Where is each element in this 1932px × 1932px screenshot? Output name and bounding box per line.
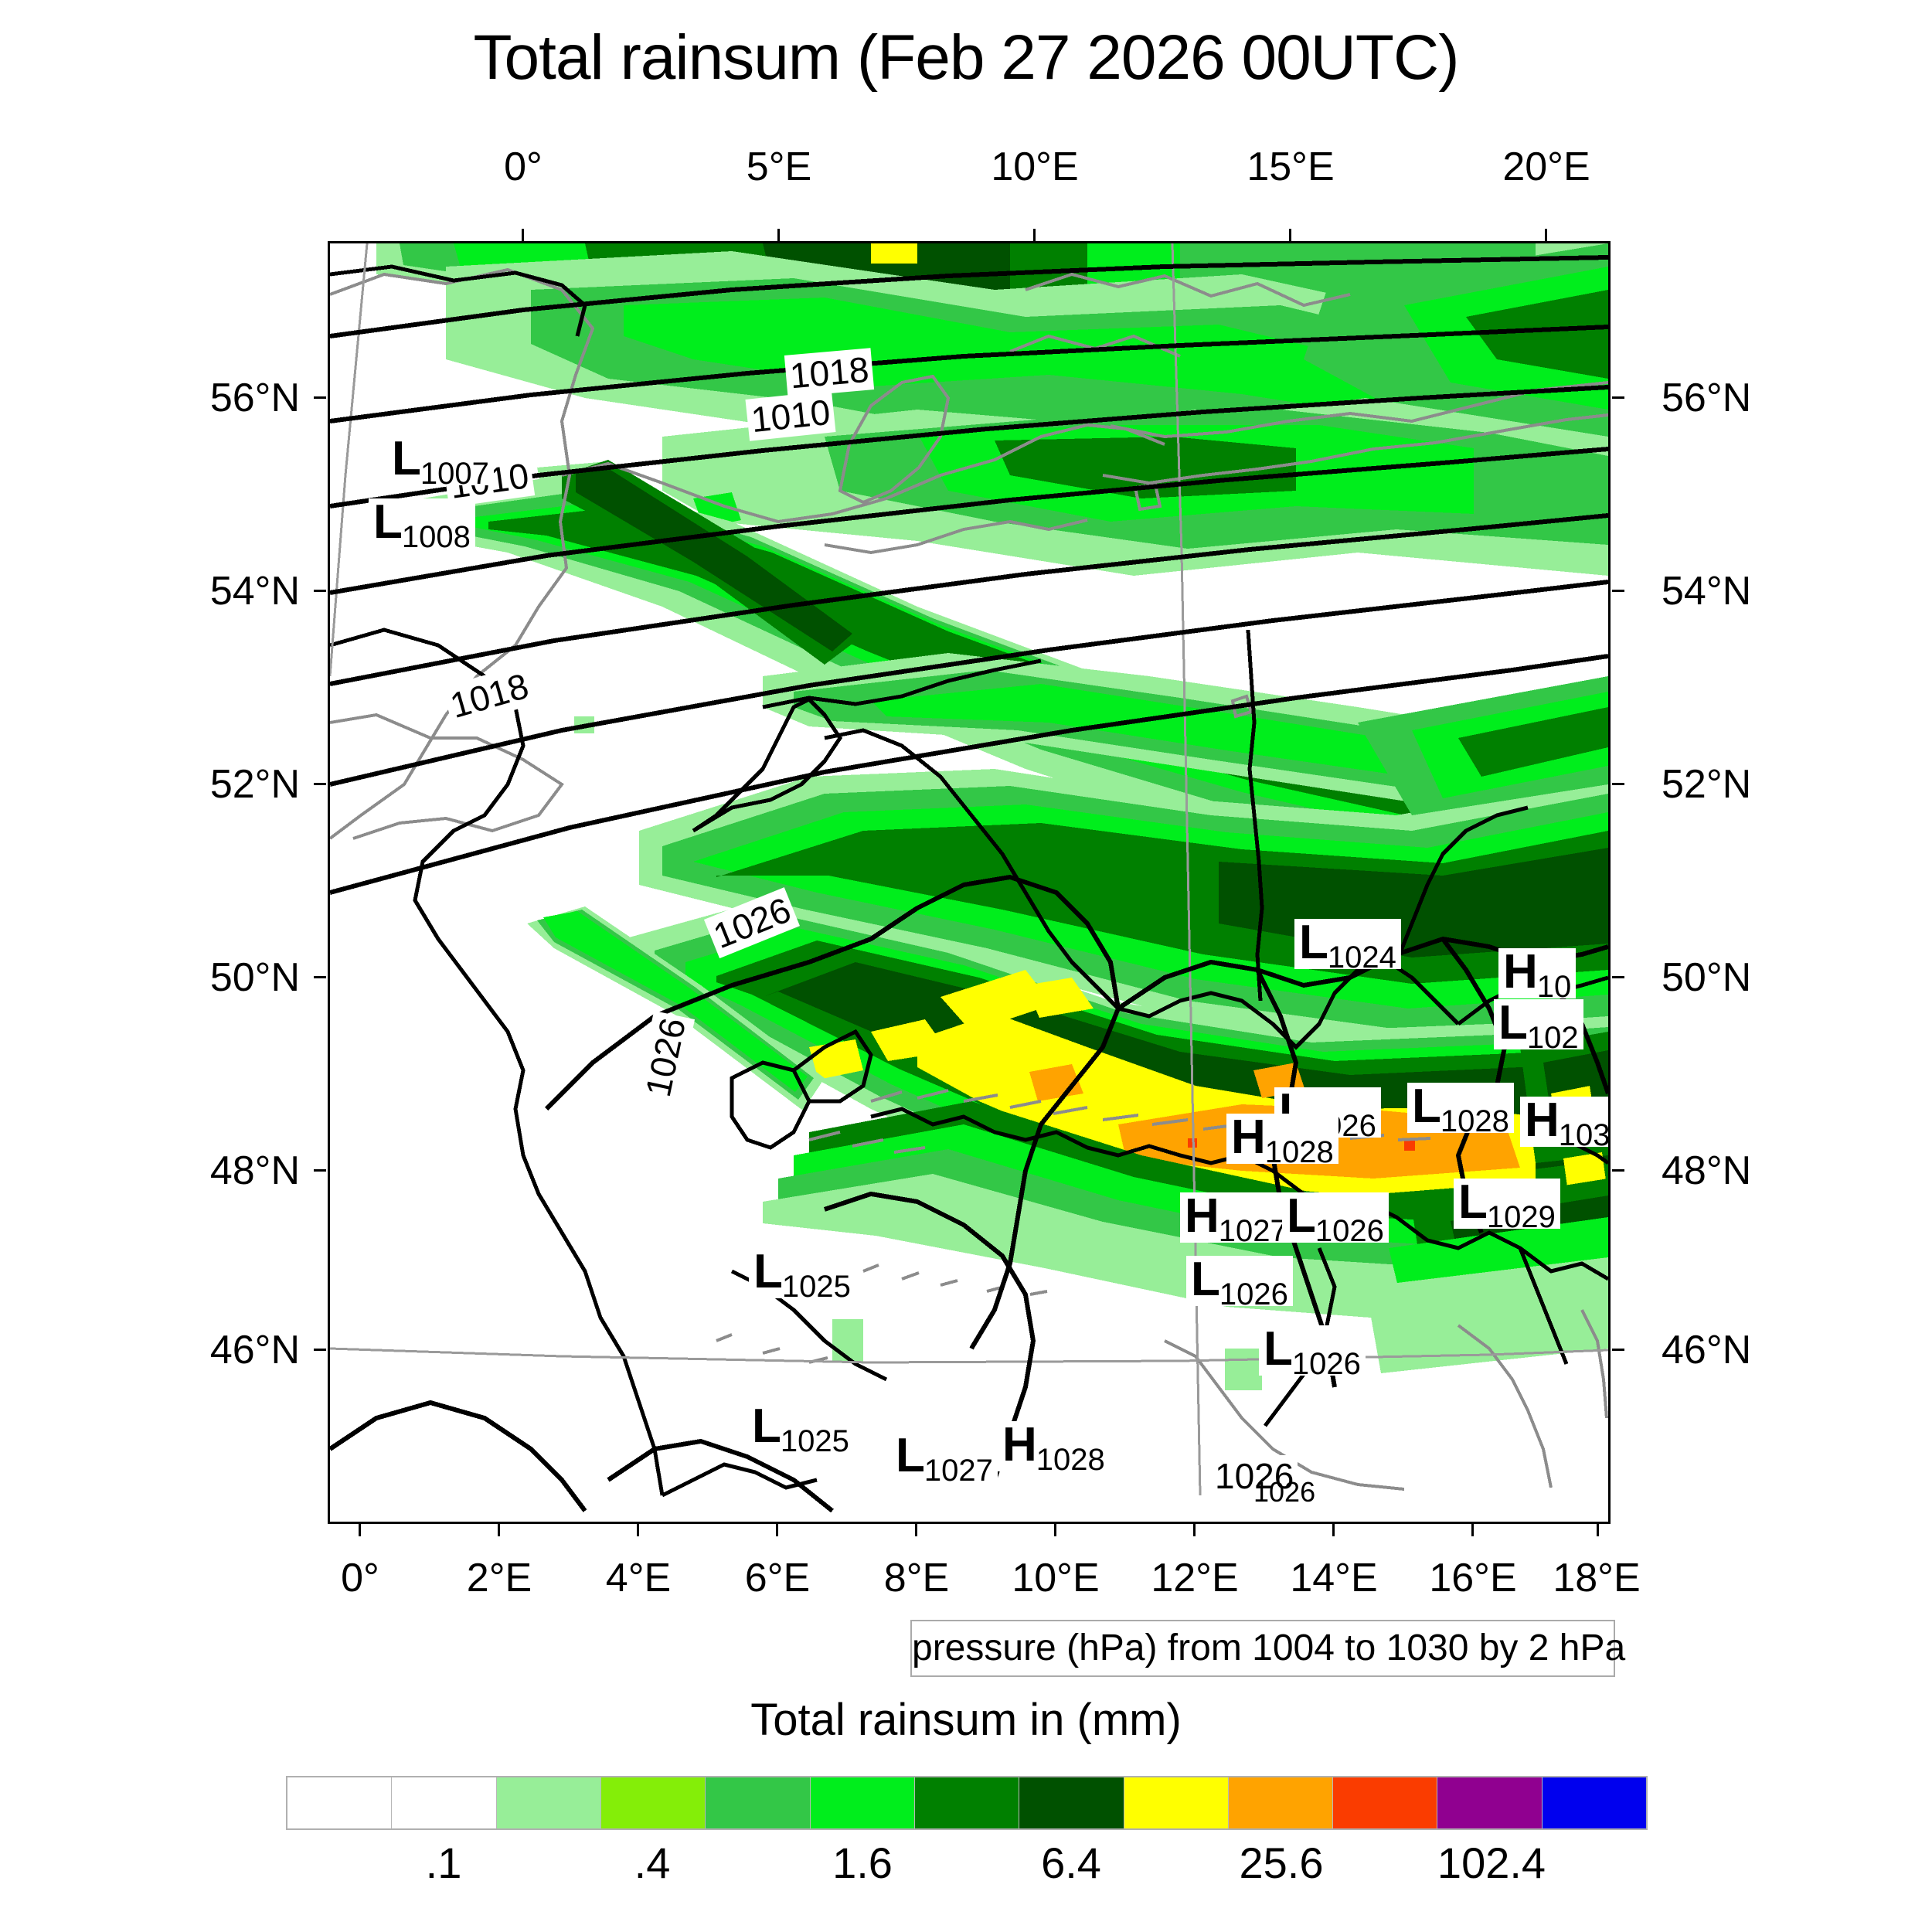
pressure-center-l-1025-a: L1025 — [749, 1248, 855, 1298]
colorbar-cell-8[interactable] — [1124, 1777, 1229, 1828]
pressure-center-l-1026-c: L1026 — [1186, 1256, 1293, 1306]
tick-left-0 — [314, 396, 326, 399]
colorbar-cell-2[interactable] — [497, 1777, 601, 1828]
colorbar-cell-7[interactable] — [1019, 1777, 1124, 1828]
tick-left-2 — [314, 783, 326, 785]
axis-top-label-3: 15°E — [1247, 144, 1334, 190]
pressure-center-l-1008: L1008 — [369, 498, 475, 549]
colorbar-cell-10[interactable] — [1333, 1777, 1437, 1828]
colorbar[interactable] — [286, 1776, 1648, 1830]
axis-bottom-label-6: 12°E — [1151, 1555, 1238, 1601]
tick-right-2 — [1612, 783, 1624, 785]
pressure-center-type: L — [753, 1245, 782, 1298]
tick-right-1 — [1612, 590, 1624, 592]
pressure-center-value: 1024 — [1328, 940, 1396, 975]
pressure-center-value: 1029 — [1487, 1200, 1556, 1234]
tick-right-0 — [1612, 396, 1624, 399]
axis-left-label-3: 50°N — [176, 954, 300, 1001]
axis-bottom-label-4: 8°E — [884, 1555, 949, 1601]
tick-bottom-6 — [1193, 1524, 1196, 1536]
colorbar-cell-5[interactable] — [811, 1777, 915, 1828]
isobar-label-1018-a: 1018 — [784, 348, 875, 397]
pressure-center-l-1027: L1027 — [891, 1432, 998, 1482]
colorbar-tick-3: 6.4 — [1041, 1838, 1101, 1888]
colorbar-cell-11[interactable] — [1437, 1777, 1542, 1828]
axis-bottom-label-8: 16°E — [1429, 1555, 1516, 1601]
pressure-center-h-1028-b: H1028 — [998, 1421, 1110, 1471]
tick-bottom-8 — [1471, 1524, 1474, 1536]
pressure-center-l-1026-b: L1026 — [1282, 1192, 1389, 1243]
pressure-center-type: L — [1412, 1080, 1440, 1133]
axis-right-label-1: 54°N — [1662, 568, 1751, 614]
pressure-center-value: 1007 — [420, 457, 489, 491]
axis-bottom-label-2: 4°E — [606, 1555, 671, 1601]
colorbar-cell-0[interactable] — [287, 1777, 392, 1828]
pressure-center-value: 1028 — [1440, 1104, 1509, 1138]
colorbar-tick-5: 102.4 — [1437, 1838, 1546, 1888]
colorbar-cell-4[interactable] — [706, 1777, 810, 1828]
tick-bottom-7 — [1332, 1524, 1335, 1536]
pressure-center-value: 1026 — [1292, 1347, 1361, 1381]
map-plot-area[interactable]: 1010 1010 1018 1018 1026 1026 1026 L1007… — [328, 241, 1611, 1524]
colorbar-tick-labels: .1 .4 1.6 6.4 25.6 102.4 — [286, 1838, 1648, 1900]
pressure-center-type: H — [1525, 1094, 1559, 1147]
axis-left-label-2: 52°N — [176, 761, 300, 808]
pressure-center-h-10: H10 — [1498, 948, 1576, 998]
pressure-center-value: 1027 — [1219, 1214, 1287, 1248]
axis-bottom-label-1: 2°E — [467, 1555, 532, 1601]
pressure-contour-note: pressure (hPa) from 1004 to 1030 by 2 hP… — [910, 1620, 1615, 1677]
tick-bottom-1 — [498, 1524, 500, 1536]
colorbar-cell-9[interactable] — [1229, 1777, 1333, 1828]
pressure-center-value: 1028 — [1265, 1135, 1334, 1169]
map-raster — [330, 243, 1608, 1522]
pressure-center-l-1029: L1029 — [1454, 1179, 1560, 1229]
pressure-center-value: 102 — [1527, 1021, 1579, 1055]
tick-top-4 — [1545, 229, 1547, 241]
tick-top-2 — [1033, 229, 1036, 241]
pressure-center-h-103: H103 — [1520, 1097, 1611, 1147]
pressure-center-type: L — [1287, 1189, 1315, 1243]
tick-bottom-2 — [637, 1524, 639, 1536]
pressure-center-type: H — [1503, 945, 1537, 998]
tick-top-0 — [522, 229, 524, 241]
pressure-center-value: 103 — [1559, 1118, 1611, 1152]
colorbar-cell-6[interactable] — [915, 1777, 1019, 1828]
tick-top-1 — [777, 229, 780, 241]
page-title: Total rainsum (Feb 27 2026 00UTC) — [0, 22, 1932, 94]
axis-bottom-label-9: 18°E — [1553, 1555, 1640, 1601]
map-canvas — [330, 243, 1608, 1522]
tick-bottom-3 — [776, 1524, 778, 1536]
pressure-center-value: 1026 — [1219, 1277, 1288, 1311]
pressure-center-type: H — [1002, 1418, 1036, 1471]
tick-bottom-9 — [1597, 1524, 1599, 1536]
pressure-center-type: L — [1498, 996, 1527, 1049]
tick-left-4 — [314, 1169, 326, 1172]
axis-bottom-label-5: 10°E — [1012, 1555, 1099, 1601]
pressure-center-value: 1026 — [1315, 1214, 1384, 1248]
axis-right-label-5: 46°N — [1662, 1327, 1751, 1373]
pressure-center-value: 1028 — [1036, 1443, 1105, 1477]
pressure-center-l-1024: L1024 — [1294, 919, 1401, 969]
tick-left-3 — [314, 976, 326, 978]
tick-right-3 — [1612, 976, 1624, 978]
pressure-center-l-1026-d: L1026 — [1259, 1325, 1366, 1376]
pressure-center-l-1025-b: L1025 — [747, 1403, 854, 1453]
axis-right-label-4: 48°N — [1662, 1148, 1751, 1194]
colorbar-tick-4: 25.6 — [1240, 1838, 1324, 1888]
colorbar-tick-1: .4 — [634, 1838, 671, 1888]
tick-right-5 — [1612, 1349, 1624, 1351]
pressure-center-type: H — [1185, 1189, 1219, 1243]
pressure-center-type: L — [373, 495, 402, 549]
axis-bottom-label-0: 0° — [341, 1555, 379, 1601]
pressure-center-h-1028-a: H1028 — [1226, 1114, 1338, 1164]
axis-right-label-0: 56°N — [1662, 375, 1751, 421]
colorbar-title: Total rainsum in (mm) — [0, 1694, 1932, 1746]
axis-left-label-1: 54°N — [176, 568, 300, 614]
pressure-center-type: L — [392, 432, 420, 485]
axis-bottom-label-7: 14°E — [1290, 1555, 1377, 1601]
axis-left-label-0: 56°N — [176, 375, 300, 421]
tick-left-1 — [314, 590, 326, 592]
pressure-center-value: 1025 — [781, 1424, 849, 1458]
pressure-center-value: 1008 — [402, 520, 471, 554]
tick-right-4 — [1612, 1169, 1624, 1172]
pressure-center-type: H — [1231, 1111, 1265, 1164]
colorbar-cell-12[interactable] — [1543, 1777, 1646, 1828]
pressure-center-value: 1025 — [782, 1270, 851, 1304]
tick-bottom-5 — [1054, 1524, 1056, 1536]
tick-bottom-0 — [359, 1524, 361, 1536]
pressure-center-type: L — [1264, 1322, 1292, 1376]
pressure-center-type: L — [1299, 916, 1328, 969]
isobar-label-1026-d: 1026 — [1250, 1475, 1319, 1509]
axis-top-label-1: 5°E — [747, 144, 811, 190]
axis-right-label-3: 50°N — [1662, 954, 1751, 1001]
colorbar-cell-1[interactable] — [392, 1777, 496, 1828]
pressure-center-value: 1027 — [924, 1454, 993, 1488]
colorbar-tick-0: .1 — [426, 1838, 462, 1888]
pressure-center-h-1027: H1027 — [1180, 1192, 1292, 1243]
tick-bottom-4 — [915, 1524, 917, 1536]
pressure-center-type: L — [1458, 1175, 1487, 1229]
axis-right-label-2: 52°N — [1662, 761, 1751, 808]
tick-top-3 — [1289, 229, 1291, 241]
axis-top-label-4: 20°E — [1502, 144, 1590, 190]
axis-top-label-2: 10°E — [991, 144, 1078, 190]
pressure-center-type: L — [752, 1400, 781, 1453]
pressure-center-l-102: L102 — [1494, 999, 1583, 1049]
pressure-center-type: L — [1191, 1253, 1219, 1306]
pressure-center-type: L — [896, 1429, 924, 1482]
axis-left-label-5: 46°N — [176, 1327, 300, 1373]
pressure-center-l-1028: L1028 — [1407, 1083, 1514, 1133]
axis-bottom-label-3: 6°E — [745, 1555, 810, 1601]
axis-left-label-4: 48°N — [176, 1148, 300, 1194]
pressure-center-l-1007: L1007 — [387, 435, 494, 485]
tick-left-5 — [314, 1349, 326, 1351]
axis-top-label-0: 0° — [504, 144, 543, 190]
colorbar-cell-3[interactable] — [601, 1777, 706, 1828]
colorbar-tick-2: 1.6 — [832, 1838, 893, 1888]
